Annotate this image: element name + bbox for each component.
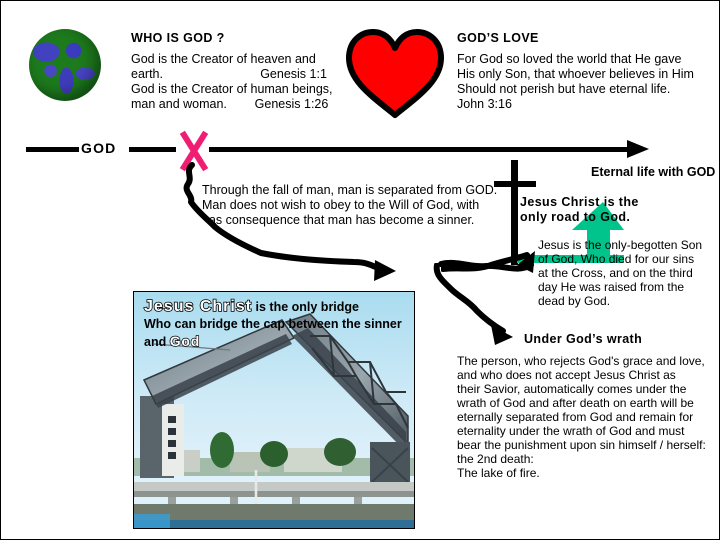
jesus-road-line-2: of God, Who died for our sins	[538, 252, 694, 267]
wrath-line-1: The person, who rejects God's grace and …	[457, 354, 705, 369]
bridge-caption-line-2: Who can bridge the cap between the sinne…	[144, 316, 406, 333]
heart-icon	[343, 27, 447, 119]
gods-love-line-2: His only Son, that whoever believes in H…	[457, 67, 694, 83]
jesus-road-line-5: dead by God.	[538, 294, 610, 309]
timeline-arrowhead-icon	[627, 140, 649, 158]
gods-love-line-1: For God so loved the world that He gave	[457, 52, 681, 68]
fall-of-man-line-3: as consequence that man has become a sin…	[202, 213, 474, 229]
bridge-caption-line-3-plain: and	[144, 335, 170, 349]
timeline-segment-left	[26, 147, 79, 152]
timeline-segment-right	[209, 147, 632, 152]
jesus-road-line-1: Jesus is the only-begotten Son	[538, 238, 702, 253]
bridge-photo: Jesus Christ is the only bridge Who can …	[133, 291, 415, 529]
bridge-caption: Jesus Christ is the only bridge Who can …	[144, 298, 406, 351]
who-is-god-line-1: God is the Creator of heaven and	[131, 52, 316, 68]
wrath-line-5: eternally separated from God and remain …	[457, 410, 693, 425]
bridge-caption-line-1-plain: is the only bridge	[252, 300, 359, 314]
wrath-line-9: The lake of fire.	[457, 466, 540, 481]
jesus-road-heading-line-1: Jesus Christ is the	[520, 195, 639, 209]
wrath-line-7: bear the punishment upon sin himself / h…	[457, 438, 706, 453]
wrath-line-8: the 2nd death:	[457, 452, 534, 467]
bridge-caption-fancy-god: God	[170, 333, 200, 349]
gods-love-line-4: John 3:16	[457, 97, 512, 113]
who-is-god-line-3: God is the Creator of human beings,	[131, 82, 333, 98]
timeline-god-label: GOD	[81, 140, 117, 156]
who-is-god-heading: WHO IS GOD ?	[131, 31, 225, 45]
wrath-line-4: wrath of God and after death on earth wi…	[457, 396, 694, 411]
wrath-line-2: and who does not accept Jesus Christ as	[457, 368, 676, 383]
eternal-life-label: Eternal life with GOD	[591, 165, 715, 179]
gods-love-heading: GOD’S LOVE	[457, 31, 539, 45]
who-is-god-line-4: man and woman. Genesis 1:26	[131, 97, 328, 113]
wrath-line-6: eternality under the wrath of God and mu…	[457, 424, 684, 439]
gods-love-line-3: Should not perish but have eternal life.	[457, 82, 670, 98]
bridge-caption-fancy-jesus: Jesus Christ	[144, 298, 252, 315]
jesus-road-line-3: at the Cross, and on the third	[538, 266, 693, 281]
wrath-heading: Under God’s wrath	[524, 332, 642, 346]
fall-of-man-line-1: Through the fall of man, man is separate…	[202, 183, 497, 199]
wrath-line-3: their Savior, automatically comes under …	[457, 382, 686, 397]
path-to-wrath-icon	[429, 263, 539, 348]
jesus-road-line-4: day He was raised from the	[538, 280, 684, 295]
globe-icon	[29, 29, 101, 101]
fall-of-man-line-2: Man does not wish to obey to the Will of…	[202, 198, 479, 214]
who-is-god-line-2: earth. Genesis 1:1	[131, 67, 327, 83]
timeline-segment-mid	[129, 147, 176, 152]
diagram-canvas: WHO IS GOD ? God is the Creator of heave…	[0, 0, 720, 540]
jesus-road-heading-line-2: only road to God.	[520, 210, 630, 224]
